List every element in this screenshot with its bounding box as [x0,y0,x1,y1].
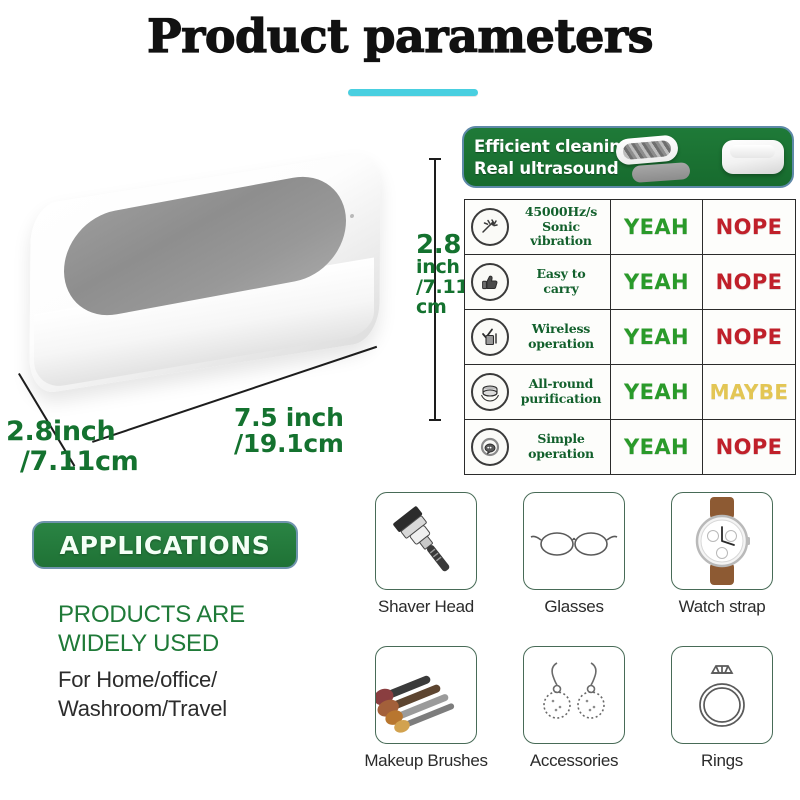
application-caption: Glasses [500,597,648,617]
page-title: Product parameters [0,12,800,60]
applications-subtext-line-1: For Home/office/ [58,665,358,694]
feature-line-2: Sonic vibration [515,220,607,250]
height-unit: inch [416,258,468,278]
applications-heading-line-2: WIDELY USED [58,629,348,658]
application-item: Glasses [500,492,648,646]
verdict-ours: YEAH [611,310,703,365]
feature-label: All-round purification [515,377,610,407]
simple-operation-icon [471,428,509,466]
table-row: All-round purification YEAH MAYBE [465,365,796,420]
verdict-ours: YEAH [611,365,703,420]
thumbnail-frame [523,492,625,590]
feature-line-2: operation [515,337,607,352]
verdict-theirs: NOPE [703,255,796,310]
feature-line-1: All-round [515,377,607,392]
page-title-wrap: Product parameters [0,12,800,60]
product-parameters-infographic: Product parameters 2.8inch /7.11cm 7.5 i… [0,0,800,800]
feature-line-1: Simple [515,432,607,447]
width-cm: /19.1cm [234,431,344,457]
applications-subtext-line-2: Washroom/Travel [58,694,358,723]
comparison-table: 45000Hz/s Sonic vibration YEAH NOPE [464,199,796,475]
application-caption: Accessories [500,751,648,771]
table-row: Simple operation YEAH NOPE [465,420,796,475]
feature-label: 45000Hz/s Sonic vibration [515,205,610,249]
efficient-cleaning-banner: Efficient cleaning Real ultrasound [462,126,794,188]
thumbnail-frame [671,492,773,590]
banner-text: Efficient cleaning Real ultrasound [474,136,632,180]
applications-subtext: For Home/office/ Washroom/Travel [58,665,358,723]
wireless-operation-icon [471,318,509,356]
feature-label: Simple operation [515,432,610,462]
verdict-theirs: MAYBE [703,365,796,420]
depth-dimension-label: 2.8inch /7.11cm [6,418,139,476]
verdict-theirs: NOPE [703,200,796,255]
table-row: Wireless operation YEAH NOPE [465,310,796,365]
applications-heading: PRODUCTS ARE WIDELY USED [58,600,348,659]
application-item: Watch strap [648,492,796,646]
feature-cell: Wireless operation [465,310,611,365]
feature-line-1: Easy to [515,267,607,282]
banner-line-1: Efficient cleaning [474,136,632,158]
verdict-theirs: NOPE [703,420,796,475]
verdict-ours: YEAH [611,200,703,255]
feature-line-2: operation [515,447,607,462]
thumbnail-frame [671,646,773,744]
watch-icon [672,493,772,589]
shaver-head-icon [376,493,476,589]
feature-line-2: carry [515,282,607,297]
glasses-icon [524,493,624,589]
application-item: Shaver Head [352,492,500,646]
width-dimension-label: 7.5 inch /19.1cm [234,405,344,457]
feature-cell: Simple operation [465,420,611,475]
height-cm: /7.11 [416,278,468,298]
application-caption: Makeup Brushes [352,751,500,771]
sonic-vibration-icon [471,208,509,246]
earrings-icon [524,647,624,743]
feature-cell: 45000Hz/s Sonic vibration [465,200,611,255]
depth-inch: 2.8inch [6,416,115,447]
feature-label: Wireless operation [515,322,610,352]
height-cm-unit: cm [416,298,468,318]
application-caption: Watch strap [648,597,796,617]
ring-icon [672,647,772,743]
depth-cm: /7.11cm [20,448,139,476]
feature-line-1: Wireless [515,322,607,337]
application-thumbnail-grid: Shaver Head Glasses [352,492,796,800]
application-caption: Shaver Head [352,597,500,617]
thumbnail-frame [523,646,625,744]
width-inch: 7.5 inch [234,403,344,432]
thumbnail-frame [375,492,477,590]
feature-label: Easy to carry [515,267,610,297]
feature-line-2: purification [515,392,607,407]
banner-line-2: Real ultrasound [474,158,632,180]
application-caption: Rings [648,751,796,771]
application-item: Makeup Brushes [352,646,500,800]
applications-heading-line-1: PRODUCTS ARE [58,600,348,629]
thumbnail-frame [375,646,477,744]
table-row: 45000Hz/s Sonic vibration YEAH NOPE [465,200,796,255]
verdict-ours: YEAH [611,255,703,310]
thumbs-up-icon [471,263,509,301]
verdict-theirs: NOPE [703,310,796,365]
height-dimension-label: 2.8 inch /7.11 cm [416,232,468,317]
makeup-brushes-icon [376,647,476,743]
applications-badge-label: APPLICATIONS [60,531,271,560]
application-item: Accessories [500,646,648,800]
verdict-ours: YEAH [611,420,703,475]
all-round-purification-icon [471,373,509,411]
feature-cell: All-round purification [465,365,611,420]
banner-open-device-icon [615,134,679,165]
table-row: Easy to carry YEAH NOPE [465,255,796,310]
ultrasonic-cleaner-illustration [30,178,390,388]
application-item: Rings [648,646,796,800]
banner-closed-device-icon [722,140,784,174]
banner-lid-icon [631,162,690,183]
applications-badge: APPLICATIONS [32,521,298,569]
feature-cell: Easy to carry [465,255,611,310]
title-underline-rule [348,89,478,96]
feature-line-1: 45000Hz/s [515,205,607,220]
